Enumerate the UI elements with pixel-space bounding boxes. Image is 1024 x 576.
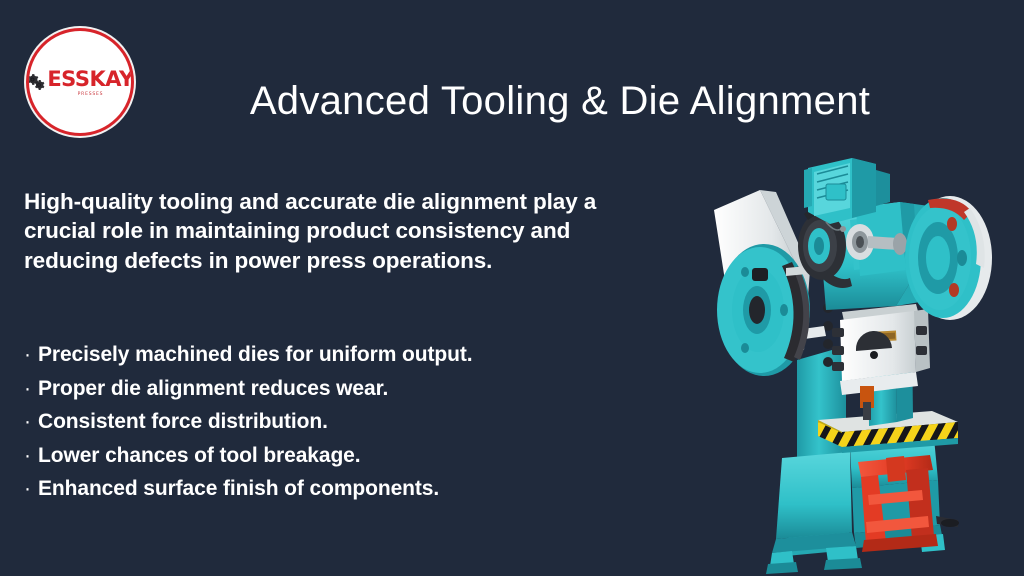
logo-wordmark: ESSKAY — [47, 69, 131, 90]
bullet-icon: · — [24, 439, 38, 473]
benefits-list: ·Precisely machined dies for uniform out… — [24, 338, 664, 506]
list-item-label: Enhanced surface finish of components. — [38, 477, 439, 500]
list-item: ·Precisely machined dies for uniform out… — [24, 338, 664, 372]
list-item: ·Consistent force distribution. — [24, 405, 664, 439]
list-item: ·Enhanced surface finish of components. — [24, 472, 664, 506]
bullet-icon: · — [24, 472, 38, 506]
bullet-icon: · — [24, 372, 38, 406]
list-item-label: Proper die alignment reduces wear. — [38, 377, 388, 400]
gears-icon — [29, 73, 45, 93]
logo-inner-group: ESSKAY PRESSES — [29, 69, 131, 97]
power-press-machine — [700, 150, 1024, 576]
esskay-logo[interactable]: ESSKAY PRESSES — [29, 31, 131, 133]
list-item: ·Lower chances of tool breakage. — [24, 439, 664, 473]
slide-canvas: ESSKAY PRESSES Advanced Tooling & Die Al… — [0, 0, 1024, 576]
logo-text-group: ESSKAY PRESSES — [47, 69, 131, 97]
list-item-label: Precisely machined dies for uniform outp… — [38, 343, 472, 366]
logo-subtext: PRESSES — [47, 92, 131, 97]
list-item: ·Proper die alignment reduces wear. — [24, 372, 664, 406]
intro-paragraph: High-quality tooling and accurate die al… — [24, 187, 664, 276]
bullet-icon: · — [24, 338, 38, 372]
list-item-label: Lower chances of tool breakage. — [38, 444, 361, 467]
bullet-icon: · — [24, 405, 38, 439]
slide-title: Advanced Tooling & Die Alignment — [160, 79, 960, 124]
list-item-label: Consistent force distribution. — [38, 410, 328, 433]
